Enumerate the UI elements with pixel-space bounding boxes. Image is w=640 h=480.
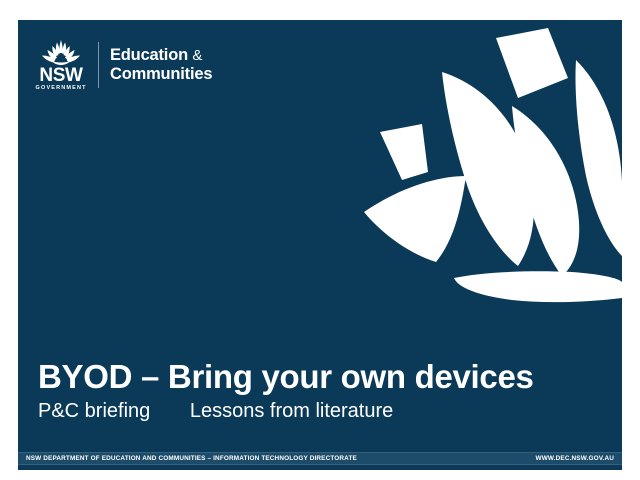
nsw-wordmark-text: NSW [39,66,82,85]
nsw-government-subtext: GOVERNMENT [35,85,86,92]
nsw-government-logo: NSW GOVERNMENT [36,39,86,92]
nsw-waratah-logo-icon [40,39,82,65]
department-wordmark: Education & Communities [110,46,212,84]
subtitle-left-text: P&C briefing [38,398,150,424]
nsw-education-communities-logo: NSW GOVERNMENT Education & Communities [36,32,212,98]
slide-title: BYOD – Bring your own devices [38,358,598,396]
department-line-education: Education & [110,46,212,65]
title-block: BYOD – Bring your own devices P&C briefi… [38,358,598,424]
ampersand-glyph: & [192,47,202,64]
department-line-communities: Communities [110,65,212,84]
presentation-title-slide: NSW GOVERNMENT Education & Communities B… [18,20,622,470]
footer-department-text: NSW DEPARTMENT OF EDUCATION AND COMMUNIT… [26,454,357,463]
slide-subtitle: P&C briefing Lessons from literature [38,398,598,424]
slide-footer-bar: NSW DEPARTMENT OF EDUCATION AND COMMUNIT… [18,452,622,465]
footer-website-text: WWW.DEC.NSW.GOV.AU [536,454,614,463]
logo-divider [98,42,99,88]
department-education-text: Education [110,46,188,64]
subtitle-right-text: Lessons from literature [190,398,393,424]
sydney-opera-house-sails-graphic [362,20,622,305]
